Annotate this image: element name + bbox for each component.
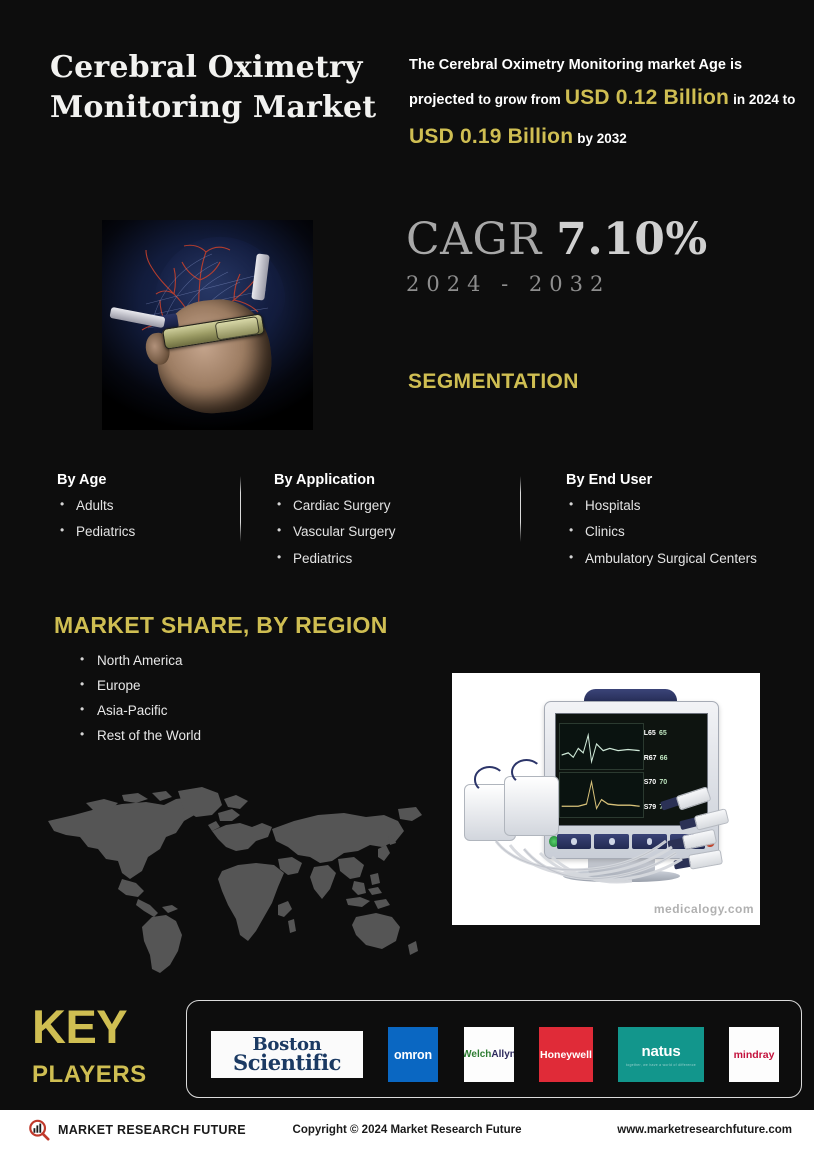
- segment-item: Vascular Surgery: [274, 525, 504, 540]
- region-item: Rest of the World: [78, 729, 201, 744]
- segmentation-divider: [240, 476, 241, 542]
- intro-mid: to grow from: [478, 92, 561, 107]
- image-watermark: medicalogy.com: [654, 902, 754, 916]
- world-map-icon: [26, 775, 436, 975]
- cerebral-oximeter-monitor-image: L65 65 R67 66 S70 70 S79 79: [452, 673, 760, 925]
- page-title: Cerebral Oximetry Monitoring Market: [50, 48, 390, 128]
- segment-list: Adults Pediatrics: [57, 499, 237, 540]
- segment-item: Pediatrics: [57, 525, 237, 540]
- logo-welch-allyn[interactable]: WelchAllyn: [464, 1027, 514, 1082]
- logo-text: natus: [641, 1043, 680, 1060]
- region-item: North America: [78, 654, 201, 669]
- logo-text: mindray: [734, 1049, 775, 1061]
- cerebral-oximetry-head-image: [102, 220, 313, 430]
- market-share-region-list: North America Europe Asia-Pacific Rest o…: [78, 654, 201, 753]
- segmentation-column-by-age: By Age Adults Pediatrics: [57, 472, 237, 552]
- logo-boston-scientific[interactable]: Boston Scientific: [211, 1031, 363, 1078]
- key-players-word-key: KEY: [32, 1003, 127, 1050]
- segment-item: Ambulatory Surgical Centers: [566, 552, 796, 567]
- logo-text-allyn: Allyn: [491, 1049, 514, 1060]
- segment-list: Cardiac Surgery Vascular Surgery Pediatr…: [274, 499, 504, 567]
- segment-item: Hospitals: [566, 499, 796, 514]
- logo-tagline: together, we have a world of difference: [626, 1063, 696, 1067]
- cagr-period: 2024 - 2032: [406, 272, 610, 296]
- cable-bundle-icon: [452, 673, 760, 925]
- segmentation-divider: [520, 476, 521, 542]
- cagr-label: CAGR: [406, 214, 542, 265]
- logo-text-line2: Scientific: [233, 1053, 341, 1072]
- logo-text-welch: Welch: [464, 1049, 491, 1060]
- logo-natus[interactable]: natus together, we have a world of diffe…: [618, 1027, 704, 1082]
- page-footer: MARKET RESEARCH FUTURE Copyright © 2024 …: [0, 1110, 814, 1150]
- key-players-word-players: PLAYERS: [32, 1063, 147, 1087]
- logo-mindray[interactable]: mindray: [729, 1027, 779, 1082]
- logo-text: Honeywell: [540, 1049, 592, 1061]
- region-item: Europe: [78, 679, 201, 694]
- cagr-block: CAGR 7.10%: [406, 218, 708, 262]
- segment-item: Cardiac Surgery: [274, 499, 504, 514]
- segment-item: Adults: [57, 499, 237, 514]
- market-share-title: MARKET SHARE, BY REGION: [54, 612, 388, 639]
- cagr-value: 7.10%: [556, 214, 707, 265]
- infographic-page: Cerebral Oximetry Monitoring Market The …: [0, 0, 814, 1150]
- region-item: Asia-Pacific: [78, 704, 201, 719]
- intro-year-from: in 2024 to: [733, 92, 795, 107]
- logo-text: omron: [394, 1048, 432, 1062]
- intro-paragraph: The Cerebral Oximetry Monitoring market …: [409, 52, 801, 157]
- footer-url[interactable]: www.marketresearchfuture.com: [617, 1124, 792, 1136]
- market-value-2024: USD 0.12 Billion: [565, 86, 729, 109]
- logo-omron[interactable]: omron: [388, 1027, 438, 1082]
- segmentation-title: SEGMENTATION: [408, 370, 579, 394]
- segment-list: Hospitals Clinics Ambulatory Surgical Ce…: [566, 499, 796, 567]
- segmentation-column-by-application: By Application Cardiac Surgery Vascular …: [274, 472, 504, 578]
- intro-year-to: by 2032: [577, 131, 627, 146]
- segment-item: Pediatrics: [274, 552, 504, 567]
- logo-honeywell[interactable]: Honeywell: [539, 1027, 593, 1082]
- segment-item: Clinics: [566, 525, 796, 540]
- segment-heading: By End User: [566, 472, 796, 488]
- segment-heading: By Application: [274, 472, 504, 488]
- segment-heading: By Age: [57, 472, 237, 488]
- segmentation-column-by-end-user: By End User Hospitals Clinics Ambulatory…: [566, 472, 796, 578]
- world-map: [26, 775, 436, 975]
- market-value-2032: USD 0.19 Billion: [409, 125, 573, 148]
